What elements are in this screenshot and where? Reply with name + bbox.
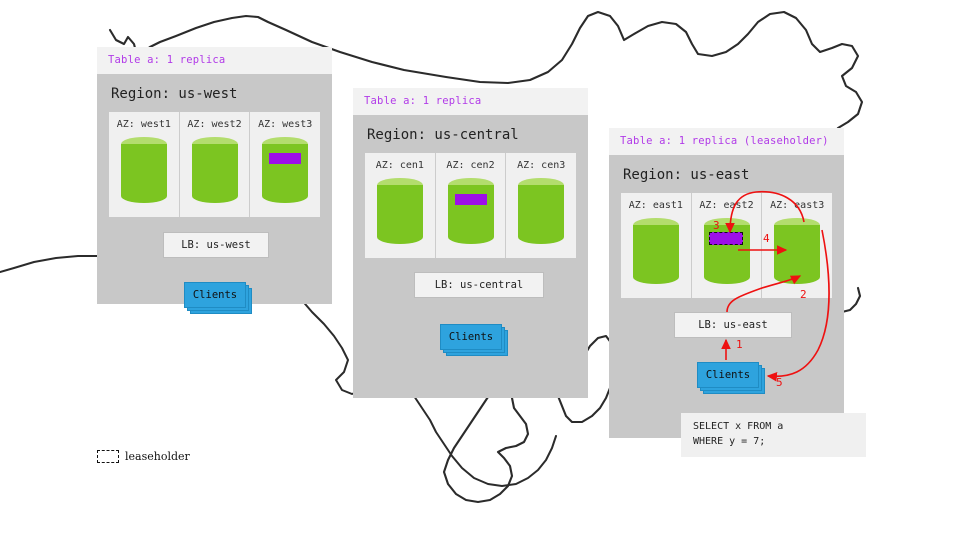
- flow-step-label-1: 1: [736, 338, 743, 351]
- flow-step-label-5: 5: [776, 376, 783, 389]
- region-title-us-east: Region: us-east: [623, 167, 832, 183]
- cylinder-body: [262, 144, 308, 196]
- az-label-east3: AZ: east3: [770, 200, 824, 211]
- panel-body-us-west: Region: us-west AZ: west1 AZ: west2: [97, 74, 332, 304]
- legend-leaseholder: leaseholder: [97, 450, 190, 463]
- az-label-cen2: AZ: cen2: [446, 160, 494, 171]
- cylinder-body: [121, 144, 167, 196]
- load-balancer-us-east[interactable]: LB: us-east: [674, 312, 792, 338]
- diagram-canvas: Table a: 1 replica Region: us-west AZ: w…: [0, 0, 960, 540]
- clients-label-us-west: Clients: [184, 282, 246, 308]
- az-cell-east1[interactable]: AZ: east1: [621, 193, 692, 298]
- az-label-west2: AZ: west2: [187, 119, 241, 130]
- az-label-west3: AZ: west3: [258, 119, 312, 130]
- az-cell-cen2[interactable]: AZ: cen2: [436, 153, 507, 258]
- az-label-cen1: AZ: cen1: [376, 160, 424, 171]
- flow-step-label-3: 3: [713, 219, 720, 232]
- az-cell-east3[interactable]: AZ: east3: [762, 193, 832, 298]
- node-cylinder-cen3[interactable]: [518, 178, 564, 244]
- region-title-us-west: Region: us-west: [111, 86, 320, 102]
- node-cylinder-east1[interactable]: [633, 218, 679, 284]
- load-balancer-us-west[interactable]: LB: us-west: [163, 232, 269, 258]
- node-cylinder-east3[interactable]: [774, 218, 820, 284]
- cylinder-body: [518, 185, 564, 237]
- node-cylinder-cen1[interactable]: [377, 178, 423, 244]
- node-cylinder-west1[interactable]: [121, 137, 167, 203]
- az-cell-west1[interactable]: AZ: west1: [109, 112, 180, 217]
- replica-marker-west3: [269, 153, 301, 164]
- cylinder-body: [448, 185, 494, 237]
- az-row-us-central: AZ: cen1 AZ: cen2: [365, 153, 576, 258]
- az-label-east2: AZ: east2: [699, 200, 753, 211]
- az-label-east1: AZ: east1: [629, 200, 683, 211]
- node-cylinder-west2[interactable]: [192, 137, 238, 203]
- az-label-west1: AZ: west1: [117, 119, 171, 130]
- node-cylinder-west3[interactable]: [262, 137, 308, 203]
- az-row-us-west: AZ: west1 AZ: west2 AZ: [109, 112, 320, 217]
- clients-label-us-central: Clients: [440, 324, 502, 350]
- clients-stack-us-central[interactable]: Clients: [440, 324, 502, 350]
- az-label-cen3: AZ: cen3: [517, 160, 565, 171]
- cylinder-body: [192, 144, 238, 196]
- clients-stack-us-west[interactable]: Clients: [184, 282, 246, 308]
- panel-header-us-central: Table a: 1 replica: [353, 88, 588, 115]
- az-cell-cen1[interactable]: AZ: cen1: [365, 153, 436, 258]
- cylinder-body: [633, 225, 679, 277]
- clients-stack-us-east[interactable]: Clients: [697, 362, 759, 388]
- node-cylinder-east2[interactable]: [704, 218, 750, 284]
- cylinder-body: [774, 225, 820, 277]
- flow-step-label-4: 4: [763, 232, 770, 245]
- panel-body-us-east: Region: us-east AZ: east1 AZ: east2: [609, 155, 844, 438]
- load-balancer-us-central[interactable]: LB: us-central: [414, 272, 544, 298]
- replica-marker-east2-leaseholder: [709, 232, 743, 245]
- az-cell-west2[interactable]: AZ: west2: [180, 112, 251, 217]
- region-title-us-central: Region: us-central: [367, 127, 576, 143]
- az-cell-west3[interactable]: AZ: west3: [250, 112, 320, 217]
- region-panel-us-west: Table a: 1 replica Region: us-west AZ: w…: [97, 47, 332, 304]
- leaseholder-swatch-icon: [97, 450, 119, 463]
- clients-label-us-east: Clients: [697, 362, 759, 388]
- cylinder-body: [377, 185, 423, 237]
- panel-header-us-east: Table a: 1 replica (leaseholder): [609, 128, 844, 155]
- flow-step-label-2: 2: [800, 288, 807, 301]
- az-cell-cen3[interactable]: AZ: cen3: [506, 153, 576, 258]
- legend-label: leaseholder: [125, 450, 190, 463]
- replica-marker-cen2: [455, 194, 487, 205]
- node-cylinder-cen2[interactable]: [448, 178, 494, 244]
- az-row-us-east: AZ: east1 AZ: east2: [621, 193, 832, 298]
- az-cell-east2[interactable]: AZ: east2: [692, 193, 763, 298]
- sql-query-box: SELECT x FROM a WHERE y = 7;: [681, 413, 866, 457]
- panel-header-us-west: Table a: 1 replica: [97, 47, 332, 74]
